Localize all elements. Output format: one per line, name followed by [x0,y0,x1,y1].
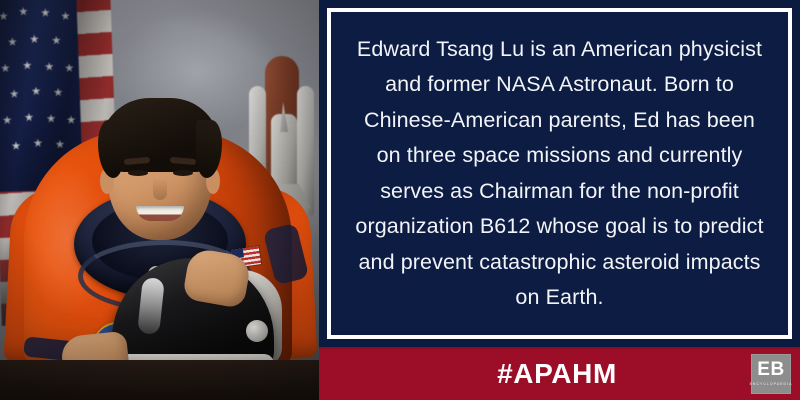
eb-logo[interactable]: EB ENCYCLOPAEDIA [751,354,791,394]
bio-text: Edward Tsang Lu is an American physicist… [352,32,767,316]
footer-bar: #APAHM EB ENCYCLOPAEDIA [319,347,800,400]
apahm-graphic: EDWARD LU Edward Tsang Lu is an American… [0,0,800,400]
hashtag-label: #APAHM [319,358,751,390]
bio-panel: Edward Tsang Lu is an American physicist… [319,0,800,347]
eye-left [128,170,148,176]
bio-panel-body: Edward Tsang Lu is an American physicist… [334,15,785,332]
astronaut-figure: EDWARD LU [0,90,319,400]
bio-panel-border: Edward Tsang Lu is an American physicist… [327,8,792,339]
helmet-latch [246,320,268,342]
eb-logo-initials: EB [757,360,784,379]
table-surface [0,360,319,400]
footer-top-edge [319,347,800,349]
nose [153,178,167,200]
eb-logo-subtext: ENCYCLOPAEDIA [750,382,793,387]
astronaut-photo: EDWARD LU [0,0,319,400]
eye-right [173,170,193,176]
smile [136,206,184,221]
